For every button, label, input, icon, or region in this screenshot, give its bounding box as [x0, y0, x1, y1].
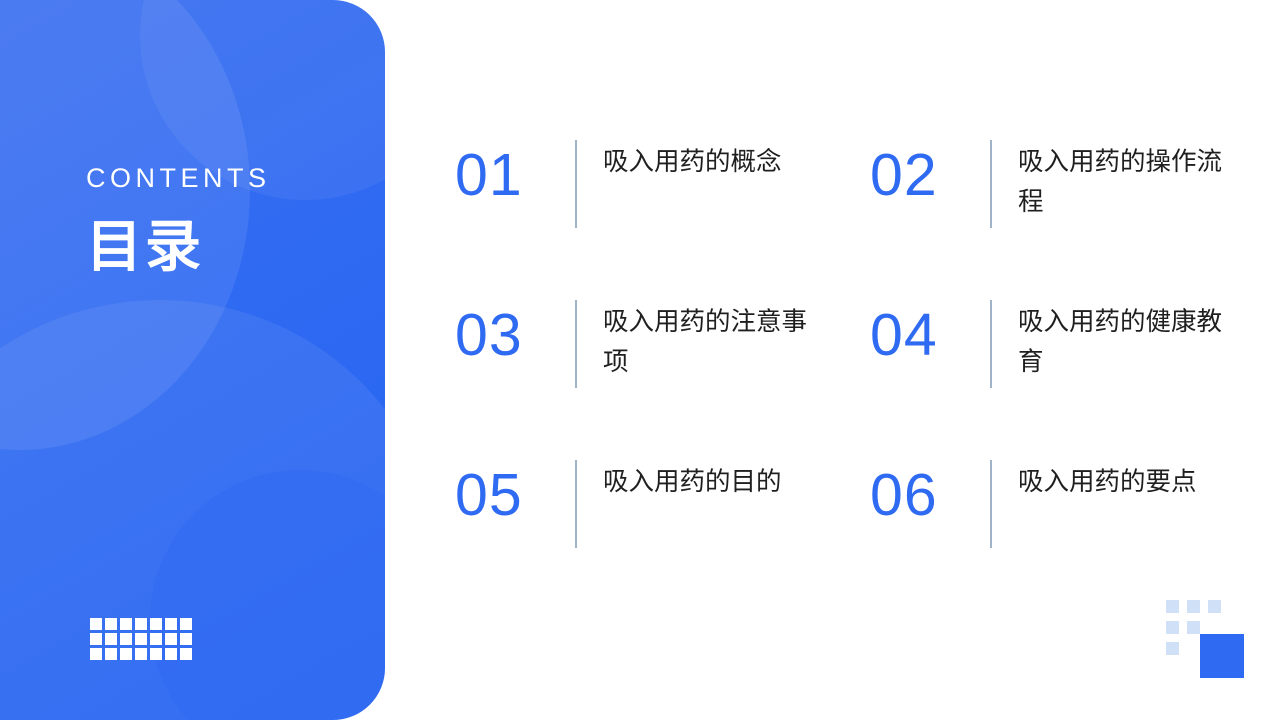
toc-divider — [990, 140, 992, 228]
dot-grid-cell — [180, 648, 192, 660]
deco-square — [1166, 600, 1179, 613]
toc-divider — [990, 460, 992, 548]
toc-item-03[interactable]: 03 吸入用药的注意事项 — [455, 300, 870, 460]
dot-grid-cell — [180, 618, 192, 630]
toc-divider — [990, 300, 992, 388]
toc-number: 03 — [455, 300, 575, 365]
dot-grid-cell — [90, 618, 102, 630]
deco-accent-square — [1200, 634, 1244, 678]
dot-grid-cell — [135, 633, 147, 645]
dot-grid-cell — [150, 633, 162, 645]
deco-square — [1166, 642, 1179, 655]
toc-item-02[interactable]: 02 吸入用药的操作流程 — [870, 140, 1245, 300]
dot-grid-cell — [150, 618, 162, 630]
dot-grid-cell — [120, 633, 132, 645]
dot-grid-cell — [90, 648, 102, 660]
dot-grid-icon — [90, 618, 192, 660]
deco-square — [1187, 621, 1200, 634]
toc-divider — [575, 460, 577, 548]
dot-grid-cell — [165, 648, 177, 660]
left-title-panel: CONTENTS 目录 — [0, 0, 385, 720]
toc-label: 吸入用药的健康教育 — [1018, 300, 1233, 383]
toc-label: 吸入用药的注意事项 — [603, 300, 818, 383]
dot-grid-cell — [120, 648, 132, 660]
toc-label: 吸入用药的概念 — [603, 140, 782, 182]
dot-grid-cell — [150, 648, 162, 660]
toc-number: 05 — [455, 460, 575, 525]
dot-grid-cell — [135, 618, 147, 630]
deco-square — [1166, 621, 1179, 634]
dot-grid-cell — [180, 633, 192, 645]
dot-grid-cell — [105, 618, 117, 630]
toc-divider — [575, 140, 577, 228]
toc-divider — [575, 300, 577, 388]
panel-title-block: CONTENTS 目录 — [86, 165, 271, 276]
table-of-contents: 01 吸入用药的概念 02 吸入用药的操作流程 03 吸入用药的注意事项 04 … — [455, 140, 1245, 620]
dot-grid-cell — [120, 618, 132, 630]
toc-number: 02 — [870, 140, 990, 205]
corner-squares-icon — [1166, 600, 1244, 678]
toc-item-06[interactable]: 06 吸入用药的要点 — [870, 460, 1245, 620]
dot-grid-cell — [90, 633, 102, 645]
dot-grid-cell — [165, 633, 177, 645]
contents-title-cn: 目录 — [86, 220, 271, 276]
toc-number: 04 — [870, 300, 990, 365]
toc-item-04[interactable]: 04 吸入用药的健康教育 — [870, 300, 1245, 460]
toc-label: 吸入用药的要点 — [1018, 460, 1197, 502]
dot-grid-cell — [105, 648, 117, 660]
dot-grid-cell — [165, 618, 177, 630]
toc-item-05[interactable]: 05 吸入用药的目的 — [455, 460, 870, 620]
deco-square — [1208, 600, 1221, 613]
toc-number: 01 — [455, 140, 575, 205]
slide-canvas: CONTENTS 目录 — [0, 0, 1280, 720]
dot-grid-cell — [135, 648, 147, 660]
dot-grid-cell — [105, 633, 117, 645]
toc-number: 06 — [870, 460, 990, 525]
toc-label: 吸入用药的操作流程 — [1018, 140, 1233, 223]
deco-square — [1187, 600, 1200, 613]
toc-label: 吸入用药的目的 — [603, 460, 782, 502]
contents-title-en: CONTENTS — [86, 165, 271, 192]
toc-item-01[interactable]: 01 吸入用药的概念 — [455, 140, 870, 300]
